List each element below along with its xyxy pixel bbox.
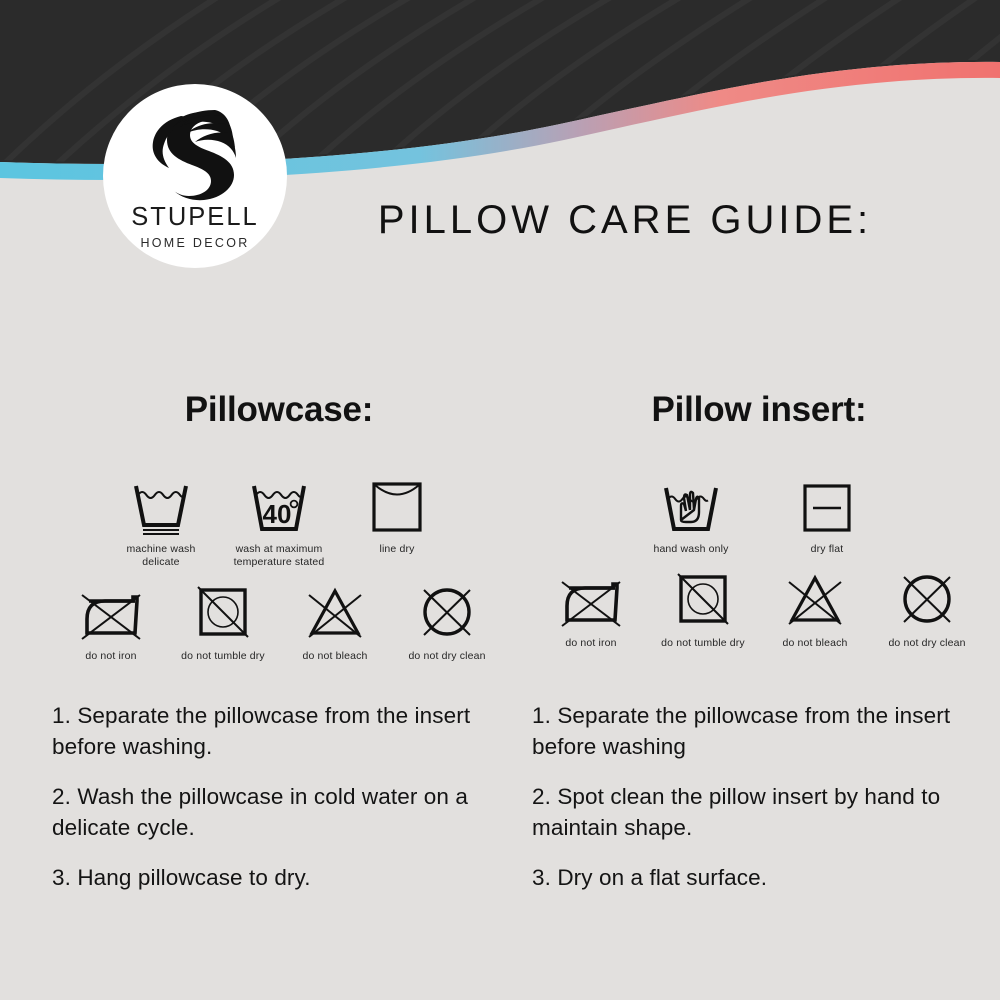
care-symbol-do-not-tumble-dry: do not tumble dry <box>173 583 273 663</box>
instruction-item: 3. Dry on a flat surface. <box>532 862 962 893</box>
symbol-grid-pillowcase: machine wash delicate 40 wash at maximum… <box>44 474 514 663</box>
brand-logo-badge: STUPELL HOME DECOR <box>103 84 287 268</box>
hand-wash-only-icon <box>660 474 722 536</box>
care-symbol-do-not-dry-clean: do not dry clean <box>877 570 977 650</box>
wash-max-temperature-40-icon: 40 <box>248 474 310 536</box>
do-not-bleach-icon <box>784 570 846 628</box>
brand-tagline: HOME DECOR <box>140 237 249 250</box>
machine-wash-delicate-icon <box>130 474 192 536</box>
care-symbol-caption: do not dry clean <box>408 650 485 663</box>
symbol-row: do not iron do not tumble dry <box>524 570 994 650</box>
section-pillowcase: Pillowcase: machine wash delicate <box>44 392 514 663</box>
care-symbol-caption: do not tumble dry <box>181 650 265 663</box>
symbol-row: do not iron do not tumble dry <box>44 583 514 663</box>
symbol-row: hand wash only dry flat <box>524 474 994 556</box>
svg-text:40: 40 <box>263 499 292 529</box>
care-symbol-caption: dry flat <box>811 543 844 556</box>
instruction-list-insert: 1. Separate the pillowcase from the inse… <box>532 700 962 893</box>
stupell-swirl-logo-icon <box>139 106 251 202</box>
care-symbol-do-not-tumble-dry: do not tumble dry <box>653 570 753 650</box>
care-symbol-dry-flat: dry flat <box>777 474 877 556</box>
care-symbol-caption: machine wash delicate <box>127 543 196 569</box>
care-symbol-machine-wash-delicate: machine wash delicate <box>111 474 211 569</box>
instruction-item: 3. Hang pillowcase to dry. <box>52 862 492 893</box>
section-heading-insert: Pillow insert: <box>524 392 994 432</box>
do-not-bleach-icon <box>304 583 366 641</box>
care-symbol-caption: line dry <box>379 543 414 556</box>
care-symbol-do-not-bleach: do not bleach <box>765 570 865 650</box>
care-symbol-wash-max-temperature: 40 wash at maximum temperature stated <box>229 474 329 569</box>
care-symbol-caption: do not bleach <box>782 637 847 650</box>
instruction-item: 2. Wash the pillowcase in cold water on … <box>52 781 492 843</box>
symbol-row: machine wash delicate 40 wash at maximum… <box>44 474 514 569</box>
instruction-item: 1. Separate the pillowcase from the inse… <box>532 700 962 762</box>
care-symbol-caption: hand wash only <box>653 543 728 556</box>
do-not-iron-icon <box>79 583 143 641</box>
care-symbol-caption: do not iron <box>85 650 136 663</box>
care-symbol-do-not-dry-clean: do not dry clean <box>397 583 497 663</box>
care-symbol-do-not-iron: do not iron <box>541 570 641 650</box>
care-symbol-caption: wash at maximum temperature stated <box>234 543 325 569</box>
do-not-tumble-dry-icon <box>674 570 732 628</box>
instruction-item: 1. Separate the pillowcase from the inse… <box>52 700 492 762</box>
care-symbol-caption: do not bleach <box>302 650 367 663</box>
instruction-list-pillowcase: 1. Separate the pillowcase from the inse… <box>52 700 492 893</box>
dry-flat-icon <box>798 474 856 536</box>
do-not-dry-clean-icon <box>418 583 476 641</box>
care-symbol-line-dry: line dry <box>347 474 447 556</box>
do-not-dry-clean-icon <box>898 570 956 628</box>
instruction-item: 2. Spot clean the pillow insert by hand … <box>532 781 962 843</box>
line-dry-icon <box>368 474 426 536</box>
care-symbol-do-not-bleach: do not bleach <box>285 583 385 663</box>
symbol-grid-insert: hand wash only dry flat <box>524 474 994 650</box>
brand-name: STUPELL <box>131 205 258 231</box>
do-not-tumble-dry-icon <box>194 583 252 641</box>
care-symbol-caption: do not tumble dry <box>661 637 745 650</box>
care-symbol-caption: do not iron <box>565 637 616 650</box>
care-symbol-hand-wash-only: hand wash only <box>641 474 741 556</box>
care-symbol-do-not-iron: do not iron <box>61 583 161 663</box>
section-heading-pillowcase: Pillowcase: <box>44 392 514 432</box>
section-pillow-insert: Pillow insert: hand wash only <box>524 392 994 650</box>
care-symbol-caption: do not dry clean <box>888 637 965 650</box>
do-not-iron-icon <box>559 570 623 628</box>
